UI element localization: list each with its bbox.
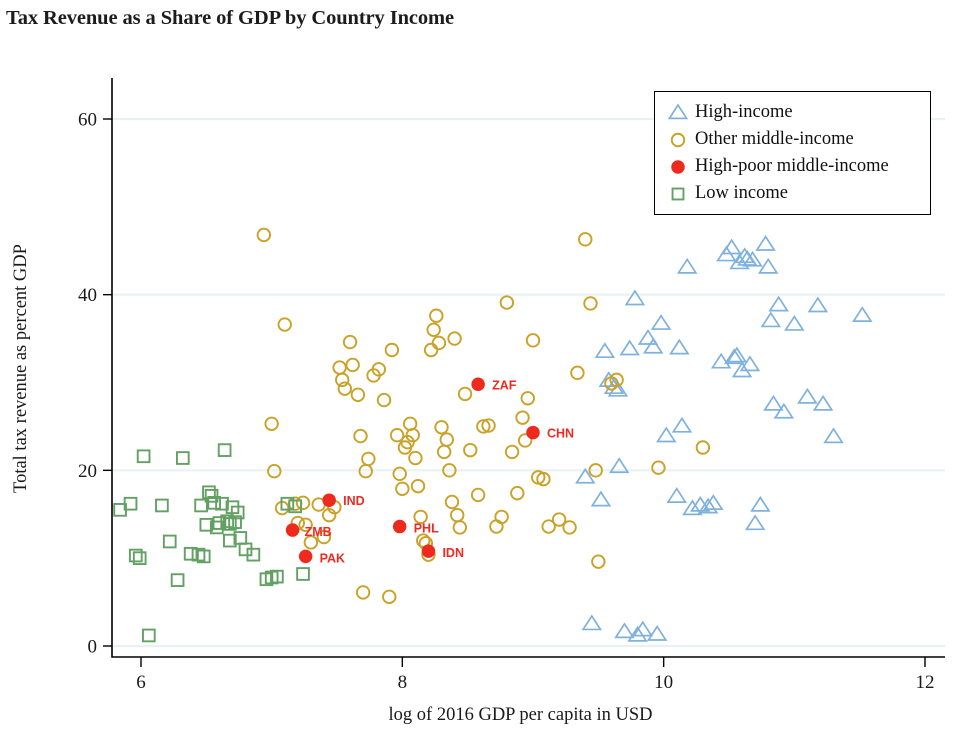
data-point-triangle [645,339,662,352]
data-point-circle [333,361,345,373]
legend-item-high-income[interactable]: High-income [663,99,921,126]
data-point-triangle [658,428,675,441]
data-point-triangle [669,105,686,118]
data-point-triangle [752,497,769,510]
data-point-triangle [757,237,774,250]
legend-marker-triangle-open [668,103,688,123]
data-point-circle-filled [422,544,436,558]
data-point-triangle [679,259,696,272]
data-point-circle [344,336,356,348]
data-point-square [138,450,150,462]
data-point-circle-filled [671,160,685,174]
legend-marker-circle-filled [668,157,688,177]
x-tick-label: 10 [654,672,673,693]
data-point-triangle [775,404,792,417]
data-point-circle [383,591,395,603]
point-label-zmb: ZMB [305,525,332,539]
data-point-square [164,536,176,548]
scatter-chart: Tax Revenue as a Share of GDP by Country… [0,0,961,736]
data-point-circle [430,310,442,322]
legend: High-incomeOther middle-incomeHigh-poor … [654,91,931,215]
data-point-triangle [762,313,779,326]
data-point-circle [357,586,369,598]
point-label-chn: CHN [547,427,574,441]
data-point-circle [425,344,437,356]
data-point-triangle [770,297,787,310]
x-tick-label: 8 [398,672,408,693]
legend-item-low-income[interactable]: Low income [663,180,921,207]
data-point-triangle [626,291,643,304]
data-point-square [172,574,184,586]
data-point-circle [522,392,534,404]
legend-item-high-poor-middle-income[interactable]: High-poor middle-income [663,153,921,180]
x-tick-label: 6 [136,672,146,693]
data-point-circle [354,430,366,442]
data-point-circle-filled [471,378,485,392]
data-point-circle [278,318,290,330]
data-point-square [177,452,189,464]
data-point-triangle [809,298,826,311]
data-point-circle [258,229,270,241]
data-point-triangle [673,418,690,431]
data-point-triangle [786,317,803,330]
data-point-circle [571,367,583,379]
y-tick-label: 40 [78,285,97,306]
data-point-circle [464,444,476,456]
data-point-triangle [583,616,600,629]
data-point-triangle [799,389,816,402]
point-label-phl: PHL [414,522,439,536]
data-point-circle [427,324,439,336]
data-point-circle [396,483,408,495]
data-point-circle [697,441,709,453]
data-point-circle [404,418,416,430]
data-point-circle [346,359,358,371]
data-point-circle [672,133,684,145]
data-point-circle [584,297,596,309]
y-axis-title: Total tax revenue as percent GDP [11,244,31,493]
data-point-square [673,188,684,199]
legend-marker-square-open [668,184,688,204]
legend-symbol [663,103,693,123]
legend-item-other-middle-income[interactable]: Other middle-income [663,126,921,153]
data-point-circle [527,334,539,346]
data-point-circle [579,233,591,245]
data-point-circle [652,461,664,473]
point-label-zaf: ZAF [492,378,517,392]
data-point-triangle [825,429,842,442]
data-point-circle [454,521,466,533]
data-point-circle-filled [322,493,336,507]
data-point-circle [438,446,450,458]
data-point-triangle [854,308,871,321]
data-point-triangle [648,627,665,640]
point-label-pak: PAK [320,551,345,565]
data-point-circle [446,496,458,508]
data-point-triangle [621,341,638,354]
legend-symbol [663,130,693,150]
data-point-triangle [592,492,609,505]
data-point-circle-filled [526,426,540,440]
data-point-circle-filled [299,550,313,564]
y-tick-label: 0 [88,637,98,658]
data-point-circle [352,389,364,401]
data-point-circle [495,511,507,523]
data-point-triangle [746,516,763,529]
data-point-circle [386,344,398,356]
data-point-triangle [668,489,685,502]
legend-marker-circle-open [668,130,688,150]
x-axis-title: log of 2016 GDP per capita in USD [389,705,653,725]
data-point-triangle [723,240,740,253]
legend-label: Low income [693,183,788,204]
data-point-circle [501,296,513,308]
legend-label: High-poor middle-income [693,156,889,177]
data-point-circle [265,418,277,430]
data-point-circle [516,411,528,423]
data-point-circle [433,337,445,349]
point-label-ind: IND [343,494,365,508]
data-point-triangle [765,396,782,409]
legend-symbol [663,184,693,204]
data-point-circle [435,421,447,433]
data-point-circle-filled [393,520,407,534]
data-point-circle-filled [286,523,300,537]
data-point-circle [448,332,460,344]
y-tick-label: 60 [78,110,97,131]
data-point-triangle [671,340,688,353]
data-point-circle [592,555,604,567]
legend-symbol [663,157,693,177]
data-point-square [156,500,168,512]
data-point-circle [362,453,374,465]
data-point-circle [451,509,463,521]
data-point-circle [412,480,424,492]
data-point-triangle [596,344,613,357]
legend-label: High-income [693,102,793,123]
data-point-circle [441,433,453,445]
data-point-circle [563,521,575,533]
data-point-square [297,568,309,580]
data-point-circle [472,489,484,501]
data-point-circle [459,388,471,400]
data-point-circle [336,374,348,386]
data-point-triangle [684,501,701,514]
legend-label: Other middle-income [693,129,854,150]
data-point-circle [506,446,518,458]
series-other-middle-income [258,229,710,603]
x-tick-label: 12 [916,672,935,693]
series-high-income [577,237,871,641]
data-point-triangle [652,316,669,329]
data-point-triangle [616,624,633,637]
data-point-circle [339,382,351,394]
data-point-square [143,630,155,642]
data-point-circle [409,452,421,464]
data-point-square [219,444,231,456]
point-label-idn: IDN [442,546,464,560]
data-point-circle [511,487,523,499]
data-point-circle [378,394,390,406]
y-tick-label: 20 [78,461,97,482]
data-point-circle [297,497,309,509]
